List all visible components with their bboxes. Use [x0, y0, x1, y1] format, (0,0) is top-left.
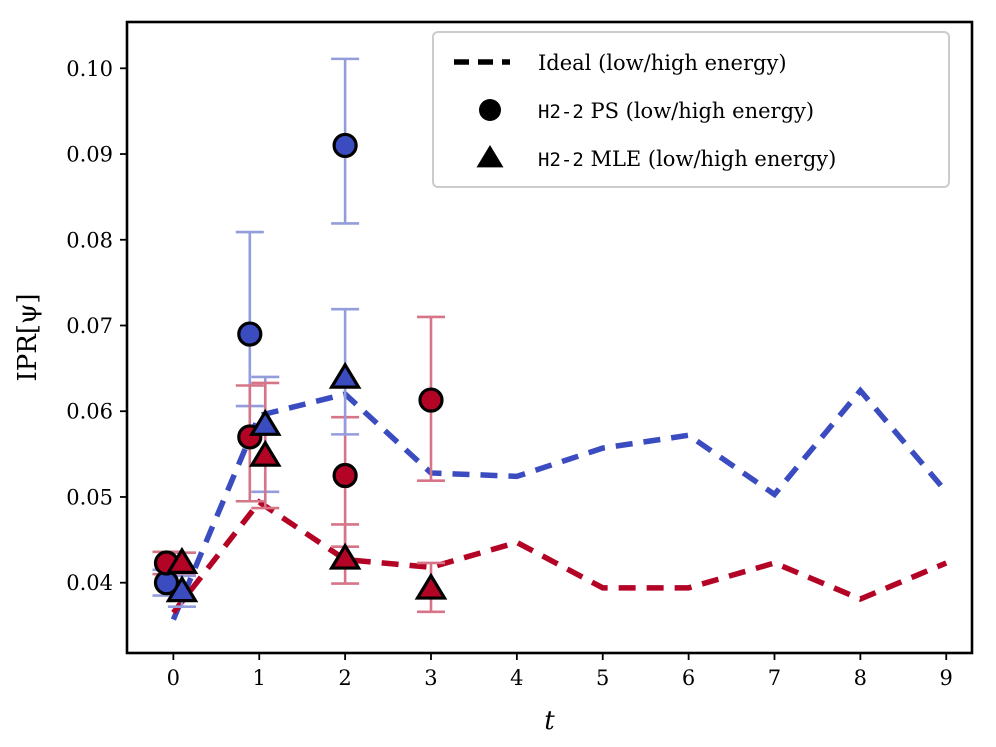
- data-point-circle: [334, 465, 356, 487]
- legend-method-name: PS (: [584, 99, 634, 123]
- x-tick-label: 3: [424, 666, 437, 690]
- y-tick-label: 0.07: [66, 314, 113, 338]
- x-tick-label: 2: [338, 666, 351, 690]
- legend-low-energy-word: low: [606, 51, 643, 75]
- chart-legend: Ideal (low/high energy)H2-2 PS (low/high…: [433, 32, 949, 187]
- legend-high-energy-word: high: [678, 99, 725, 123]
- legend-entry-label: H2-2 MLE (low/high energy): [538, 147, 836, 171]
- chart-svg: 01234567890.040.050.060.070.080.090.10tI…: [0, 0, 996, 747]
- circle-marker-swatch: [479, 99, 501, 121]
- x-tick-label: 1: [253, 666, 266, 690]
- y-axis-title: IPR[ψ]: [13, 293, 43, 381]
- data-point-circle: [239, 323, 261, 345]
- y-tick-label: 0.05: [66, 485, 113, 509]
- x-tick-label: 4: [510, 666, 523, 690]
- legend-suffix: energy): [725, 99, 814, 123]
- figure-canvas: 01234567890.040.050.060.070.080.090.10tI…: [0, 0, 996, 747]
- legend-device-name: H2-2: [538, 101, 584, 123]
- legend-entry-label: Ideal (low/high energy): [538, 51, 787, 75]
- x-axis-title: t: [544, 706, 555, 736]
- x-tick-label: 8: [854, 666, 867, 690]
- y-tick-label: 0.06: [66, 400, 113, 424]
- legend-high-energy-word: high: [651, 51, 698, 75]
- legend-device-name: H2-2: [538, 149, 584, 171]
- y-tick-label: 0.09: [66, 143, 113, 167]
- data-point-circle: [334, 134, 356, 156]
- x-tick-label: 9: [940, 666, 953, 690]
- data-point-circle: [420, 389, 442, 411]
- legend-suffix: energy): [698, 51, 787, 75]
- legend-suffix: energy): [748, 147, 837, 171]
- legend-low-energy-word: low: [634, 99, 671, 123]
- legend-entry-label: H2-2 PS (low/high energy): [538, 99, 814, 123]
- y-tick-label: 0.08: [66, 228, 113, 252]
- x-tick-label: 0: [167, 666, 180, 690]
- x-tick-label: 7: [768, 666, 781, 690]
- legend-low-energy-word: low: [656, 147, 693, 171]
- legend-method-name: Ideal (: [538, 51, 606, 75]
- x-tick-label: 5: [596, 666, 609, 690]
- y-tick-label: 0.10: [66, 57, 113, 81]
- y-tick-label: 0.04: [66, 571, 113, 595]
- legend-method-name: MLE (: [584, 147, 656, 171]
- x-tick-label: 6: [682, 666, 695, 690]
- legend-high-energy-word: high: [701, 147, 748, 171]
